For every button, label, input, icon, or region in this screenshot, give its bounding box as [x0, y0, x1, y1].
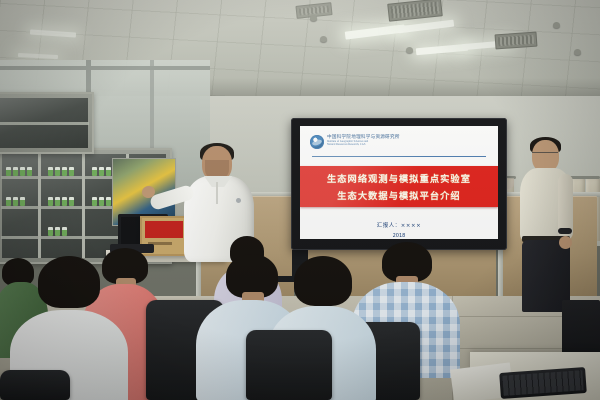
- slide-header: 中国科学院地理科学与资源研究所 Institute of Geographic …: [300, 126, 498, 155]
- reagent-bottles: [48, 227, 67, 236]
- reagent-bottles: [6, 197, 25, 206]
- slide-title-line2: 生态大数据与模拟平台介绍: [337, 188, 460, 202]
- audience-hair: [294, 256, 352, 306]
- slide-presenter-line: 汇报人：××××: [300, 221, 498, 229]
- organization-block: 中国科学院地理科学与资源研究所 Institute of Geographic …: [327, 136, 400, 147]
- slide-header-rule: [312, 156, 486, 157]
- audience-hair: [38, 256, 100, 308]
- ceiling-sprinkler: [553, 22, 560, 28]
- slide-title-banner: 生态网络观测与模拟重点实验室 生态大数据与模拟平台介绍: [300, 166, 498, 207]
- cabinet-shelf: [0, 122, 89, 125]
- office-chair[interactable]: [0, 370, 70, 400]
- ceiling-sprinkler: [310, 15, 317, 21]
- cas-igsnrr-logo-icon: [310, 135, 324, 149]
- reagent-bottles: [92, 197, 111, 206]
- partition-mullion: [0, 66, 210, 70]
- reagent-bottles: [48, 197, 74, 206]
- presenter-shirt-logo: [236, 198, 241, 203]
- slide-date-line: 2018: [300, 233, 498, 239]
- ceiling-sprinkler: [406, 47, 413, 53]
- org-name-english-line2: Natural Resources Research, CAS: [327, 144, 400, 147]
- slide-title-line1: 生态网络观测与模拟重点实验室: [327, 171, 471, 185]
- lab-storage-cabinet-upper[interactable]: [0, 92, 94, 154]
- wristwatch: [558, 228, 572, 234]
- ceiling-air-vent: [495, 32, 538, 50]
- display-screen[interactable]: 中国科学院地理科学与资源研究所 Institute of Geographic …: [300, 126, 498, 239]
- reagent-bottles: [6, 167, 32, 176]
- eyeglasses-icon: [532, 152, 558, 158]
- standing-man-right: [518, 140, 588, 320]
- presentation-slide: 中国科学院地理科学与资源研究所 Institute of Geographic …: [300, 126, 498, 239]
- ceiling-sprinkler: [320, 36, 327, 42]
- reagent-bottles: [48, 167, 74, 176]
- office-chair[interactable]: [246, 330, 332, 400]
- wall-mounted-flat-panel-display[interactable]: 中国科学院地理科学与资源研究所 Institute of Geographic …: [291, 118, 507, 250]
- photo-scene: 中国科学院地理科学与资源研究所 Institute of Geographic …: [0, 0, 600, 400]
- ceiling-sprinkler: [574, 49, 581, 55]
- presenter-placket: [216, 182, 218, 204]
- right-man-hand: [559, 236, 572, 249]
